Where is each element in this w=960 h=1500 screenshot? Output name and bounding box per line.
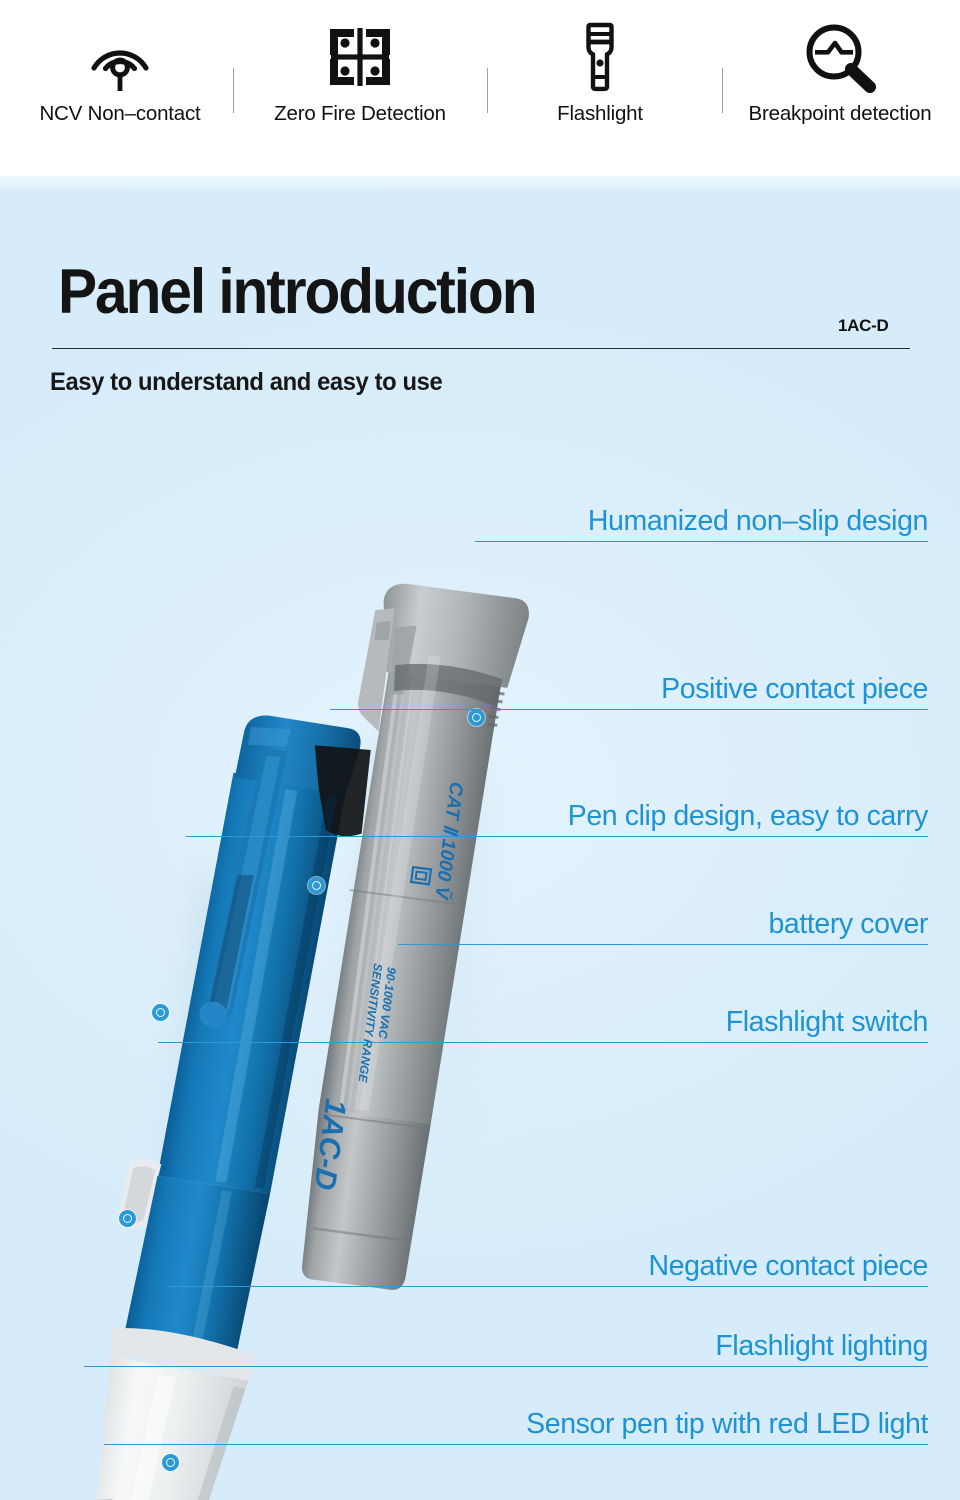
- feature-item-zero-fire: Zero Fire Detection: [240, 0, 480, 176]
- callout-label: Positive contact piece: [661, 673, 928, 706]
- blue-pen: [50, 705, 377, 1500]
- main-panel: Panel introduction 1AC-D Easy to underst…: [0, 176, 960, 1500]
- magnifier-breakpoint-icon: [801, 18, 879, 96]
- callout-dot-pen-clip[interactable]: [152, 1004, 169, 1021]
- callout-line: [158, 1042, 928, 1043]
- device-cat-rating: CAT Ⅱ 1000 Ṽ: [430, 781, 467, 902]
- callout-dot-flashlight-switch[interactable]: [119, 1210, 136, 1227]
- callout-label: battery cover: [768, 908, 928, 941]
- callout-dot-negative-contact[interactable]: [162, 1454, 179, 1471]
- gray-device: CAT Ⅱ 1000 Ṽ SENSITIVITY RANGE 90-1000 V…: [283, 580, 531, 1297]
- callout-line: [398, 944, 928, 945]
- device-sensitivity-line2: 90-1000 VAC: [375, 966, 398, 1039]
- feature-bar: NCV Non–contact: [0, 0, 960, 176]
- callout-line: [104, 1444, 928, 1445]
- callout-label: Sensor pen tip with red LED light: [526, 1408, 928, 1441]
- product-infographic-page: NCV Non–contact: [0, 0, 960, 1500]
- callout-label: Negative contact piece: [648, 1250, 928, 1283]
- feature-label-zero-fire: Zero Fire Detection: [274, 102, 446, 126]
- ncv-signal-icon: [83, 18, 157, 96]
- page-title: Panel introduction: [58, 256, 535, 328]
- callout-label: Flashlight lighting: [715, 1330, 928, 1363]
- flashlight-icon: [577, 18, 623, 96]
- device-model-text: 1AC-D: [307, 1097, 352, 1192]
- title-underline: [52, 348, 910, 349]
- callout-line: [475, 541, 928, 542]
- callout-label: Humanized non–slip design: [588, 505, 928, 538]
- feature-item-ncv: NCV Non–contact: [0, 0, 240, 176]
- feature-item-breakpoint: Breakpoint detection: [720, 0, 960, 176]
- callout-line: [84, 1366, 928, 1367]
- feature-divider-2: [487, 68, 488, 113]
- page-subtitle: Easy to understand and easy to use: [50, 368, 442, 397]
- callout-dot-positive-contact[interactable]: [308, 877, 325, 894]
- callout-line: [330, 709, 928, 710]
- device-sensitivity-line1: SENSITIVITY RANGE: [356, 962, 386, 1084]
- model-badge: 1AC-D: [838, 316, 888, 336]
- class-ii-symbol: [411, 867, 431, 884]
- feature-label-ncv: NCV Non–contact: [39, 102, 200, 126]
- callout-label: Pen clip design, easy to carry: [568, 800, 928, 833]
- feature-divider-3: [722, 68, 723, 113]
- callout-line: [186, 836, 928, 837]
- callout-label: Flashlight switch: [726, 1006, 928, 1039]
- callout-line: [168, 1286, 928, 1287]
- feature-label-breakpoint: Breakpoint detection: [749, 102, 932, 126]
- feature-divider-1: [233, 68, 234, 113]
- socket-grid-icon: [327, 18, 393, 96]
- feature-label-flashlight: Flashlight: [557, 102, 643, 126]
- feature-item-flashlight: Flashlight: [480, 0, 720, 176]
- callout-dot-humanized-non-slip[interactable]: [468, 709, 485, 726]
